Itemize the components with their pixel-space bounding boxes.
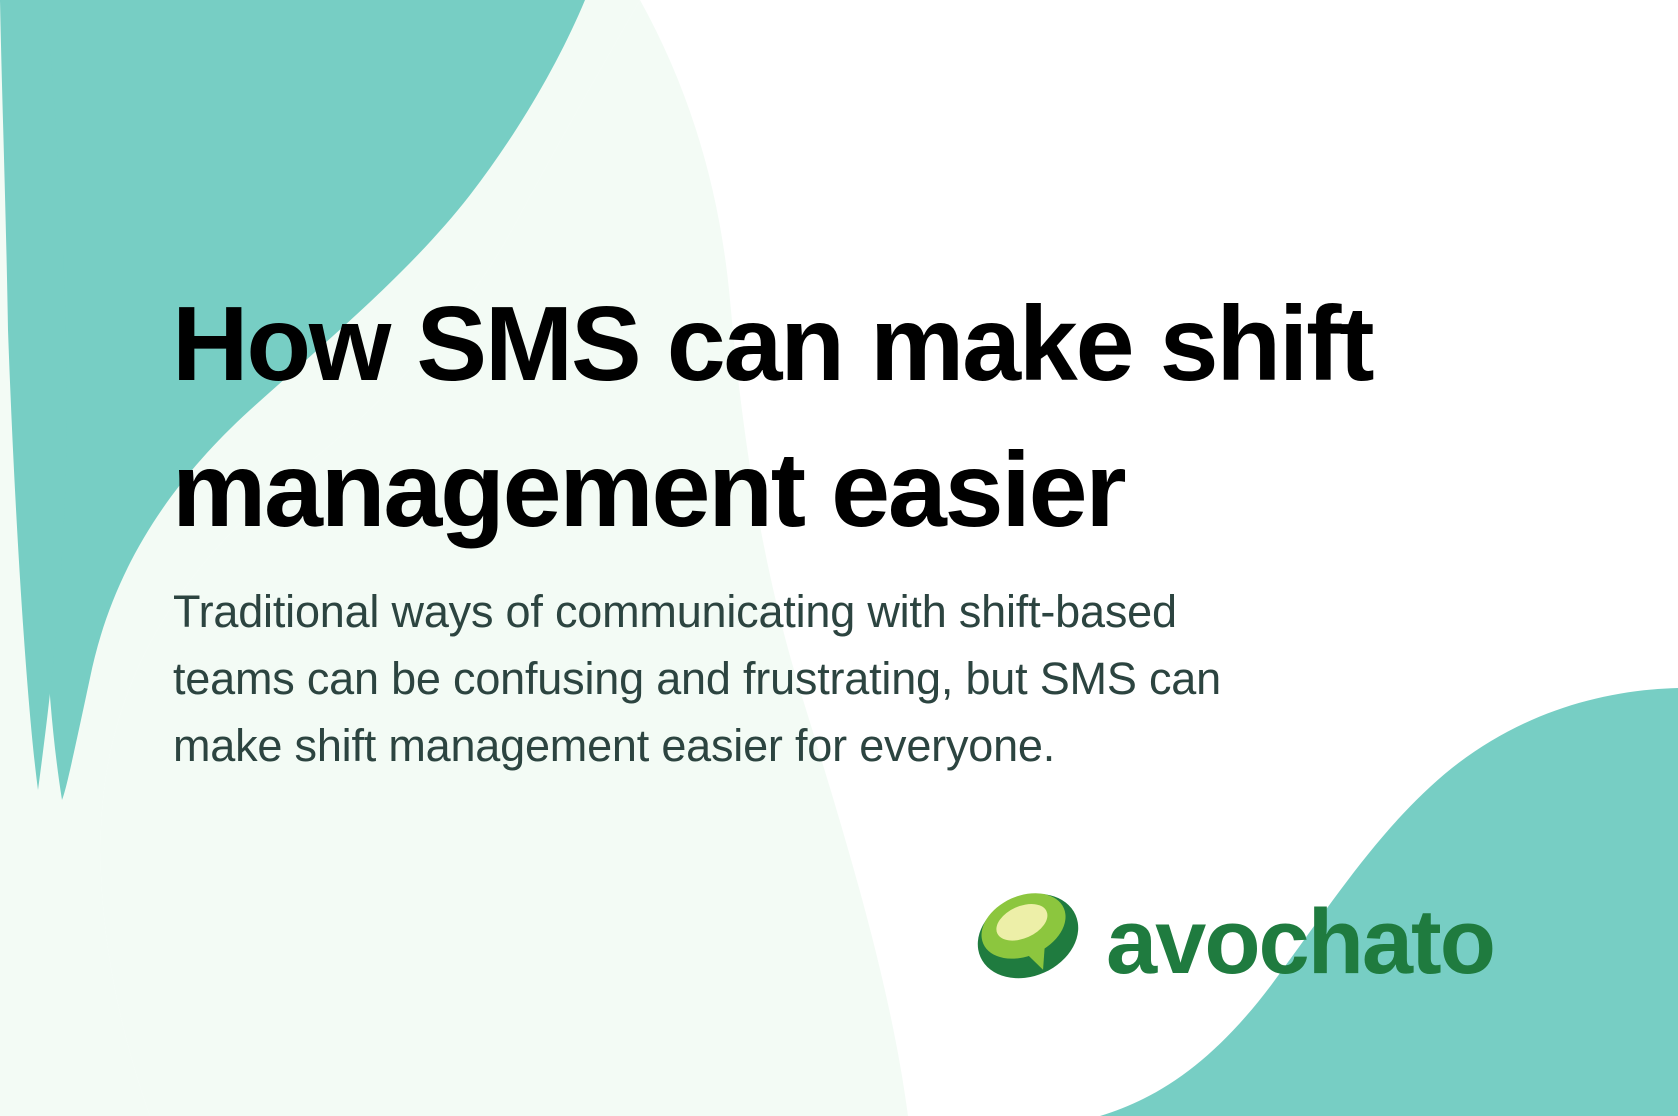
blog-hero-card: How SMS can make shift management easier… (0, 0, 1678, 1116)
page-subtitle: Traditional ways of communicating with s… (173, 578, 1333, 779)
page-title: How SMS can make shift management easier (172, 271, 1432, 563)
avochato-logo: avochato (968, 868, 1488, 1003)
logo-wordmark: avochato (1106, 896, 1494, 988)
avocado-speech-bubble-icon (968, 881, 1088, 991)
card-content: How SMS can make shift management easier… (0, 0, 1678, 1116)
